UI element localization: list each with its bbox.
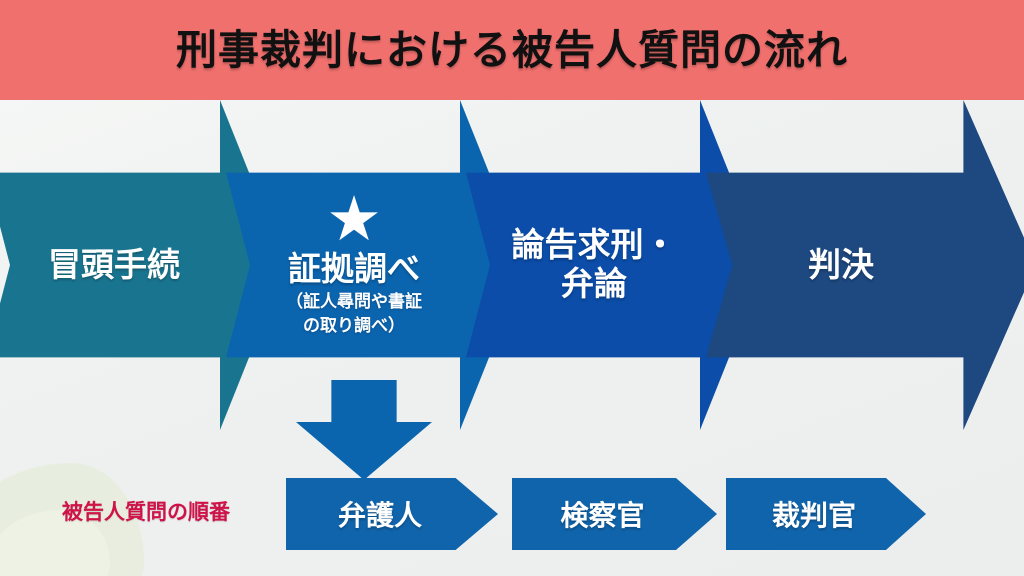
order-chip-3-label: 裁判官 <box>772 494 856 534</box>
flow-step-2-label: 証拠調べ <box>249 250 459 289</box>
flow-step-2-sublabel-line2: の取り調べ） <box>249 315 459 337</box>
questioning-order-label: 被告人質問の順番 <box>62 496 230 526</box>
order-chip-judge[interactable]: 裁判官 <box>726 478 926 550</box>
flow-step-2-content: ★ 証拠調べ （証人尋問や書証 の取り調べ） <box>249 193 459 337</box>
flow-step-opening-procedure[interactable]: 冒頭手続 <box>0 100 286 430</box>
page-title: 刑事裁判における被告人質問の流れ <box>176 30 848 71</box>
flow-step-3-content: 論告求刑・ 弁論 <box>489 226 699 304</box>
title-banner: 刑事裁判における被告人質問の流れ <box>0 0 1024 100</box>
flow-step-1-label: 冒頭手続 <box>9 246 219 285</box>
flow-step-1-content: 冒頭手続 <box>9 246 219 285</box>
flow-step-3-label-line2: 弁論 <box>489 265 699 304</box>
flow-step-2-sublabel-line1: （証人尋問や書証 <box>249 291 459 313</box>
flow-step-closing-argument[interactable]: 論告求刑・ 弁論 <box>466 100 766 430</box>
order-chip-defense-counsel[interactable]: 弁護人 <box>286 478 498 550</box>
order-chip-1-label: 弁護人 <box>338 494 422 534</box>
questioning-order-row: 被告人質問の順番 弁護人 検察官 裁判官 <box>0 478 1024 550</box>
flow-step-4-content: 判決 <box>736 246 946 285</box>
flow-step-4-label: 判決 <box>736 246 946 285</box>
star-icon: ★ <box>249 193 459 246</box>
flow-step-verdict[interactable]: 判決 <box>706 100 1024 430</box>
main-flow: 冒頭手続 ★ 証拠調べ （証人尋問や書証 の取り調べ） 論告求刑・ 弁論 判決 <box>0 100 1024 450</box>
order-chip-prosecutor[interactable]: 検察官 <box>512 478 717 550</box>
flow-step-3-label-line1: 論告求刑・ <box>489 226 699 265</box>
slide-canvas: 刑事裁判における被告人質問の流れ 冒頭手続 ★ 証拠調べ （証人尋問や書証 の取… <box>0 0 1024 576</box>
order-chip-2-label: 検察官 <box>560 494 644 534</box>
